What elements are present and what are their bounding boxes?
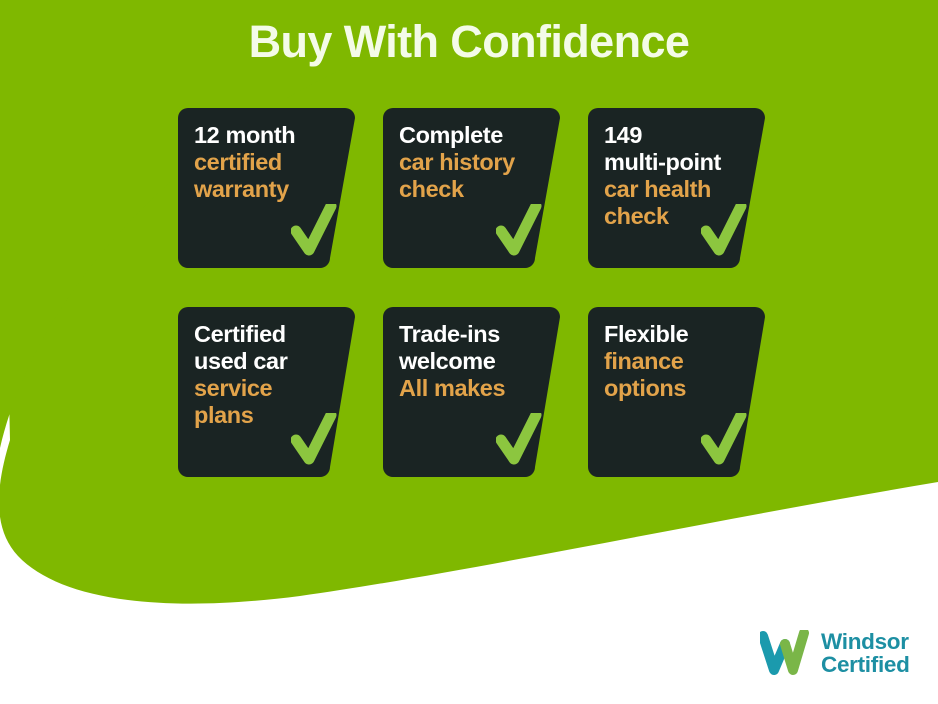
check-icon (701, 413, 747, 469)
card-text: Complete car history check (383, 108, 560, 203)
card-line: car history (399, 149, 544, 176)
card-line: All makes (399, 375, 544, 402)
logo-wordmark: Windsor Certified (821, 630, 910, 677)
check-icon (291, 413, 337, 469)
card-line: Certified (194, 321, 339, 348)
feature-card[interactable]: Flexible finance options (588, 307, 765, 477)
card-line: service (194, 375, 339, 402)
card-line: certified (194, 149, 339, 176)
card-text: Certified used car service plans (178, 307, 355, 429)
card-line: 12 month (194, 122, 339, 149)
card-line: Complete (399, 122, 544, 149)
feature-card[interactable]: Complete car history check (383, 108, 560, 268)
logo-line-1: Windsor (821, 630, 910, 653)
card-text: 12 month certified warranty (178, 108, 355, 203)
card-line: finance (604, 348, 749, 375)
card-line: 149 (604, 122, 749, 149)
check-icon (701, 204, 747, 260)
poster-canvas: Buy With Confidence 12 month certified w… (0, 0, 938, 704)
card-line: options (604, 375, 749, 402)
card-line: car health (604, 176, 749, 203)
logo-line-2: Certified (821, 653, 910, 676)
check-icon (496, 204, 542, 260)
feature-card[interactable]: Trade-ins welcome All makes (383, 307, 560, 477)
feature-card[interactable]: 12 month certified warranty (178, 108, 355, 268)
page-title: Buy With Confidence (0, 16, 938, 68)
card-line: Flexible (604, 321, 749, 348)
card-line: Trade-ins (399, 321, 544, 348)
check-icon (496, 413, 542, 469)
card-text: Flexible finance options (588, 307, 765, 402)
check-icon (291, 204, 337, 260)
card-line: check (399, 176, 544, 203)
card-text: Trade-ins welcome All makes (383, 307, 560, 402)
feature-card[interactable]: 149 multi-point car health check (588, 108, 765, 268)
feature-card[interactable]: Certified used car service plans (178, 307, 355, 477)
windsor-w-icon (760, 630, 812, 676)
card-line: welcome (399, 348, 544, 375)
card-line: used car (194, 348, 339, 375)
card-line: warranty (194, 176, 339, 203)
windsor-certified-logo[interactable]: Windsor Certified (760, 622, 930, 684)
card-line: multi-point (604, 149, 749, 176)
